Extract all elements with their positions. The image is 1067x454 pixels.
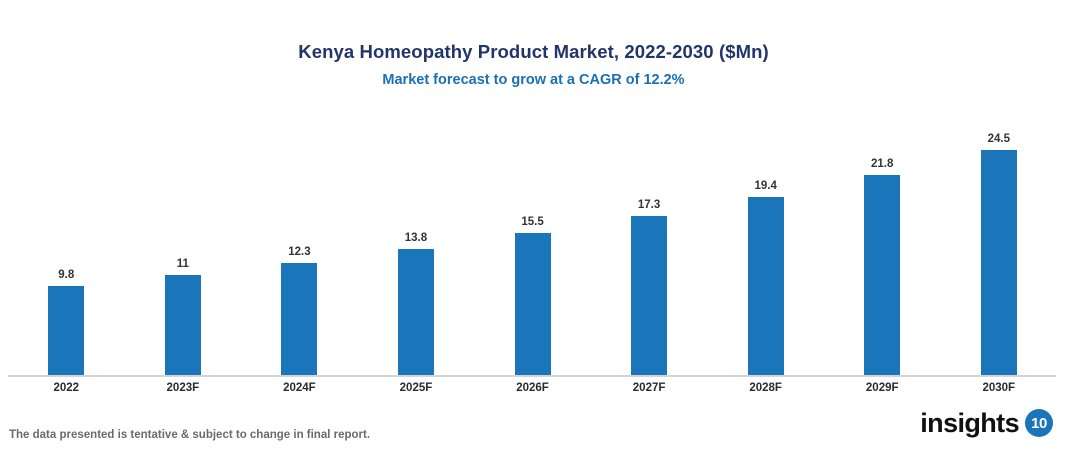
bar-group: 12.3 (241, 110, 358, 376)
bar-group: 11 (125, 110, 242, 376)
bar-value-label: 15.5 (521, 216, 543, 229)
brand-wordmark: insights (920, 408, 1019, 438)
bar (398, 249, 434, 376)
x-axis-tick-labels: 20222023F2024F2025F2026F2027F2028F2029F2… (8, 381, 1057, 395)
bar-value-label: 21.8 (871, 158, 893, 171)
x-axis-tick-label: 2024F (241, 381, 358, 395)
bar-group: 17.3 (591, 110, 708, 376)
bar (515, 233, 551, 376)
x-axis-tick-label: 2023F (125, 381, 242, 395)
bar-value-label: 19.4 (754, 180, 776, 193)
x-axis-tick-label: 2029F (824, 381, 941, 395)
bar-value-label: 13.8 (405, 232, 427, 245)
x-axis-tick-label: 2025F (358, 381, 475, 395)
bar (864, 175, 900, 376)
x-axis-tick-label: 2026F (474, 381, 591, 395)
chart-subtitle: Market forecast to grow at a CAGR of 12.… (0, 71, 1067, 89)
bar (48, 286, 84, 376)
chart-card: Kenya Homeopathy Product Market, 2022-20… (0, 0, 1067, 454)
bar-value-label: 12.3 (288, 246, 310, 259)
x-axis-tick-label: 2030F (941, 381, 1058, 395)
bar-group: 13.8 (358, 110, 475, 376)
bar-group: 9.8 (8, 110, 125, 376)
plot-area: 9.81112.313.815.517.319.421.824.5 (8, 110, 1057, 376)
chart-header: Kenya Homeopathy Product Market, 2022-20… (0, 40, 1067, 89)
x-axis-line (8, 375, 1056, 377)
bar (981, 150, 1017, 376)
x-axis-tick-label: 2022 (8, 381, 125, 395)
bar (281, 263, 317, 376)
bar-group: 15.5 (474, 110, 591, 376)
bar (165, 275, 201, 376)
x-axis-tick-label: 2028F (707, 381, 824, 395)
bar (631, 216, 667, 376)
disclaimer-text: The data presented is tentative & subjec… (9, 428, 370, 442)
bar-value-label: 9.8 (58, 269, 74, 282)
insights10-logo: insights 10 (920, 408, 1053, 438)
bar (748, 197, 784, 376)
bar-group: 24.5 (941, 110, 1058, 376)
bar-group: 21.8 (824, 110, 941, 376)
bar-value-label: 17.3 (638, 199, 660, 212)
bar-series: 9.81112.313.815.517.319.421.824.5 (8, 110, 1057, 376)
bar-group: 19.4 (707, 110, 824, 376)
chart-title: Kenya Homeopathy Product Market, 2022-20… (0, 40, 1067, 64)
x-axis-tick-label: 2027F (591, 381, 708, 395)
bar-value-label: 24.5 (988, 133, 1010, 146)
brand-badge-icon: 10 (1025, 409, 1053, 437)
bar-value-label: 11 (177, 258, 189, 271)
